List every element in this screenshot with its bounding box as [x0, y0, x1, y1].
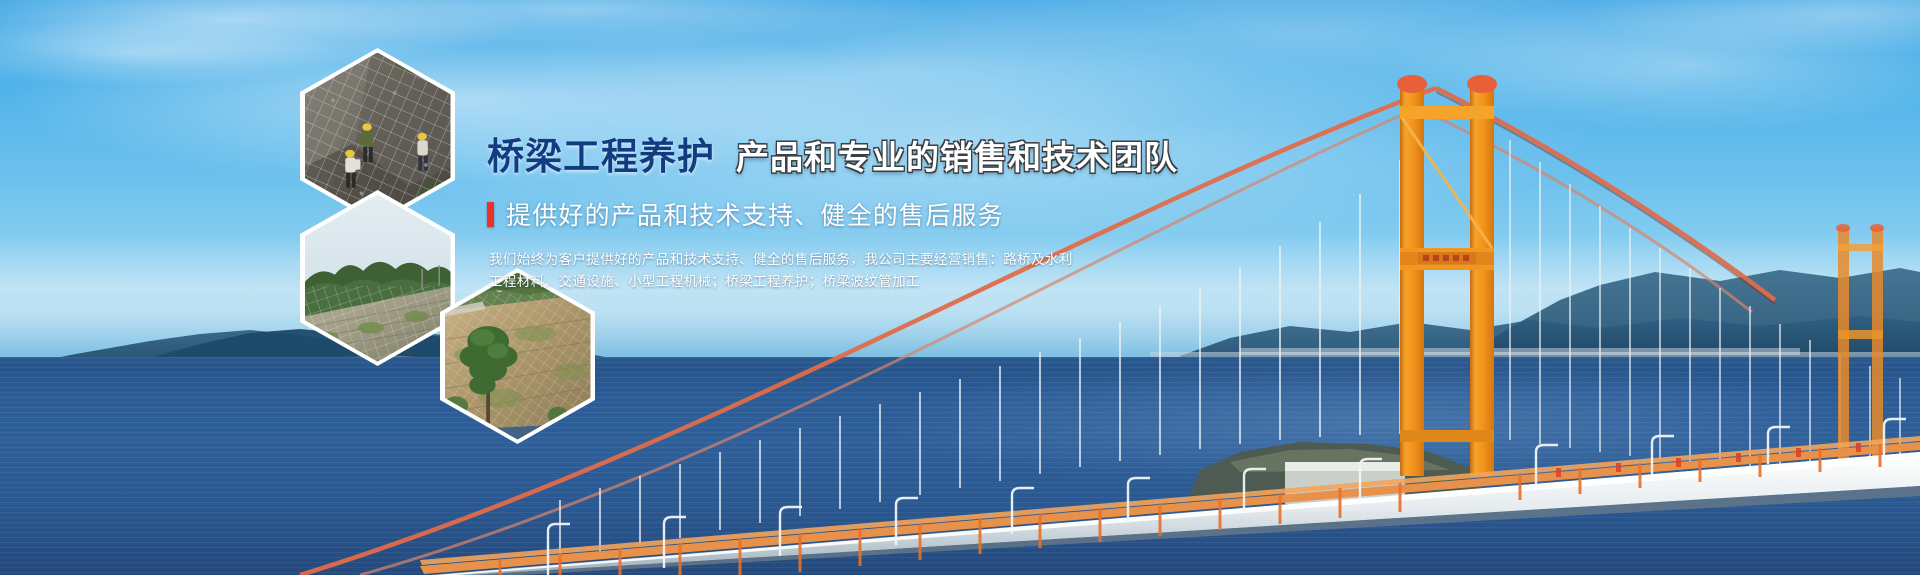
photo-vegetated-slope-netting-graphic [305, 195, 451, 362]
paragraph-line-2: 工程材料、交通设施、小型工程机械；桥梁工程养护；桥梁波纹管加工 [489, 271, 1127, 293]
hex-photo-hillside-slope-netting-tree [440, 268, 595, 444]
hero-banner: 桥梁工程养护 产品和专业的销售和技术团队 提供好的产品和技术支持、健全的售后服务… [0, 0, 1920, 575]
bridge-deck [420, 436, 1920, 575]
bridge-tower-main [1397, 75, 1497, 476]
bridge-tower-far [1836, 224, 1884, 476]
banner-headline: 桥梁工程养护 产品和专业的销售和技术团队 [487, 126, 1127, 180]
hex-photo-vegetated-slope-netting [300, 190, 455, 366]
worker-figure-small [342, 347, 350, 361]
headline-secondary: 产品和专业的销售和技术团队 [736, 131, 1178, 179]
banner-copy: 桥梁工程养护 产品和专业的销售和技术团队 提供好的产品和技术支持、健全的售后服务… [487, 126, 1127, 293]
red-accent-bar [487, 202, 494, 227]
banner-subtitle-row: 提供好的产品和技术支持、健全的售后服务 [487, 196, 1127, 232]
banner-paragraph: 我们始终为客户提供好的产品和技术支持、健全的售后服务，我公司主要经营销售：路桥及… [489, 249, 1127, 293]
photo-hillside-slope-netting-tree-graphic [445, 273, 591, 440]
banner-subtitle: 提供好的产品和技术支持、健全的售后服务 [506, 196, 1004, 232]
headline-primary: 桥梁工程养护 [487, 126, 715, 180]
paragraph-line-1: 我们始终为客户提供好的产品和技术支持、健全的售后服务，我公司主要经营销售：路桥及… [489, 249, 1127, 271]
